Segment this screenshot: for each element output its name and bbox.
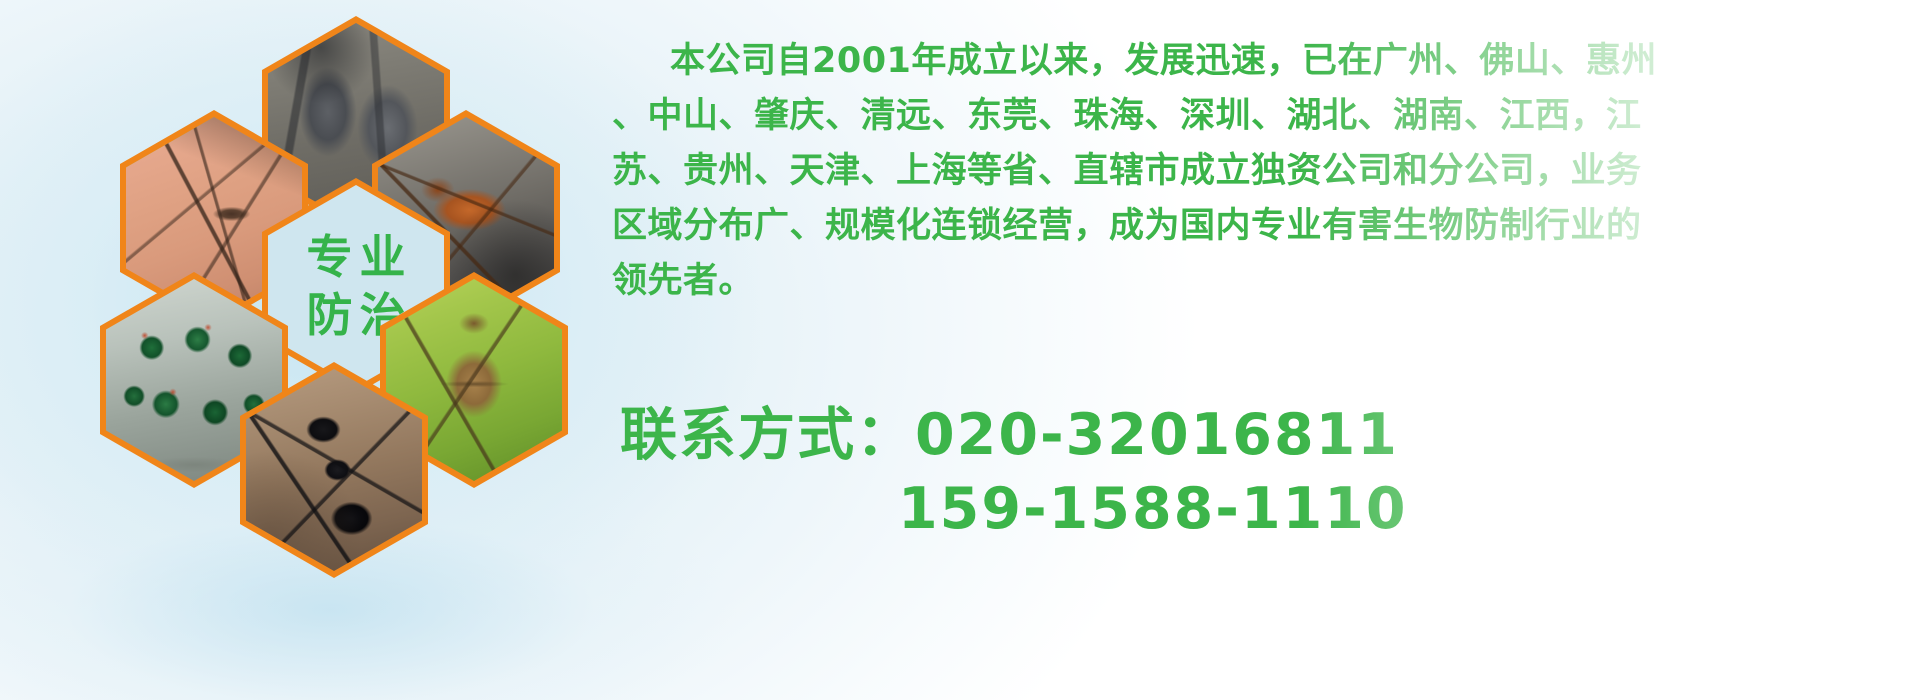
- contact-phone-landline[interactable]: 020-32016811: [915, 402, 1399, 468]
- honeycomb-collage: 专业 防治: [0, 0, 620, 620]
- contact-line-primary: 联系方式：020-32016811: [620, 398, 1910, 472]
- ant-image: [246, 369, 422, 571]
- intro-line-4: 区域分布广、规模化连锁经营，成为国内专业有害生物防制行业的: [612, 199, 1908, 254]
- intro-line-3: 苏、贵州、天津、上海等省、直辖市成立独资公司和分公司，业务: [612, 144, 1908, 199]
- contact-block: 联系方式：020-32016811 159-1588-1110: [620, 398, 1910, 546]
- pest-control-banner: 专业 防治 本公司自2001年成立以来，发展迅速，已在广州、佛山、惠州 、中山、…: [0, 0, 1920, 700]
- ant-photo-inner: [246, 369, 422, 571]
- intro-line-1: 本公司自2001年成立以来，发展迅速，已在广州、佛山、惠州: [612, 34, 1908, 89]
- logo-line-1: 专业: [300, 230, 413, 284]
- intro-line-2: 、中山、肇庆、清远、东莞、珠海、深圳、湖北、湖南、江西，江: [612, 89, 1908, 144]
- contact-label: 联系方式：: [620, 402, 915, 468]
- intro-line-5: 领先者。: [612, 254, 1908, 309]
- company-intro: 本公司自2001年成立以来，发展迅速，已在广州、佛山、惠州 、中山、肇庆、清远、…: [612, 34, 1908, 309]
- contact-phone-mobile[interactable]: 159-1588-1110: [620, 472, 1910, 546]
